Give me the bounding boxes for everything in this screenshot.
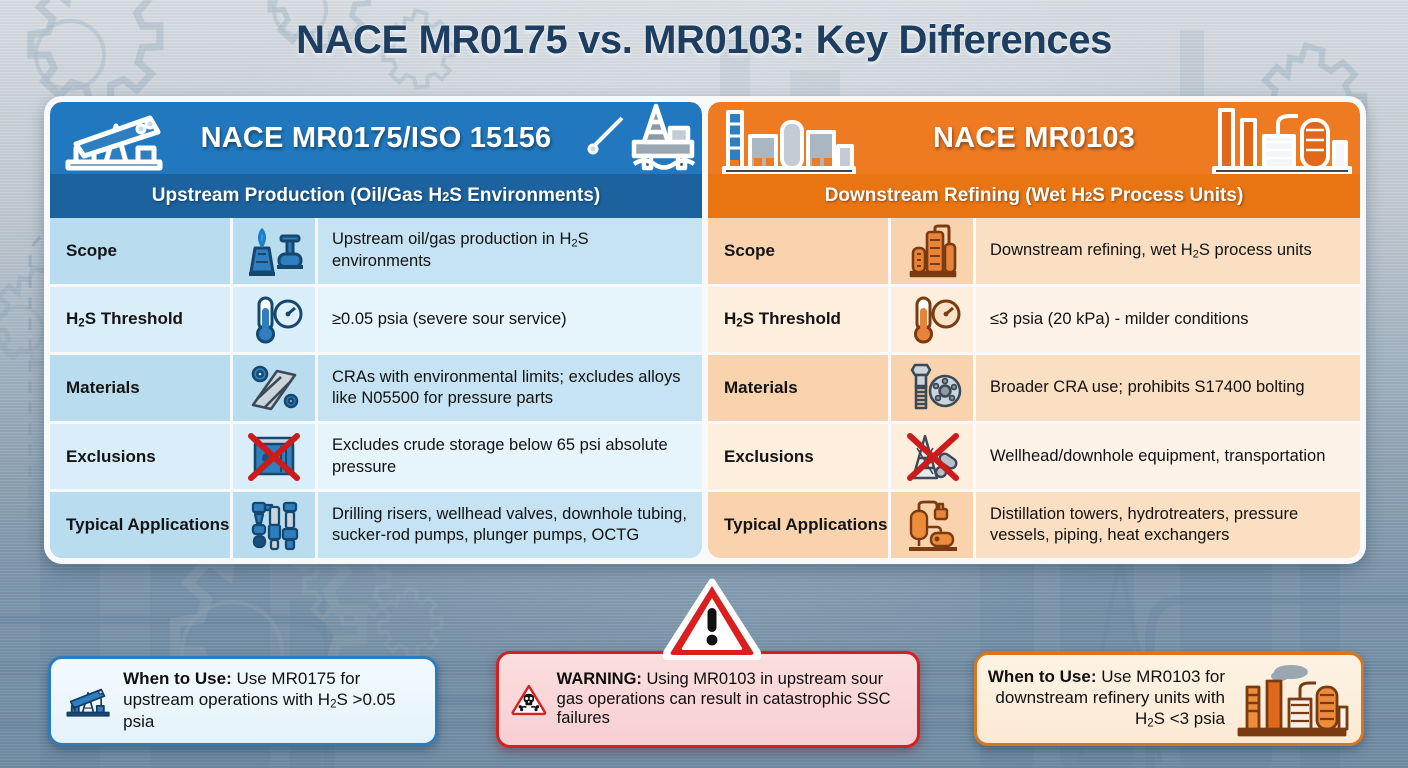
row-label: Materials [708, 355, 888, 421]
panel-header-title-mr0103: NACE MR0103 [933, 122, 1135, 155]
warning-text: WARNING: Using MR0103 in upstream sour g… [557, 670, 905, 729]
row-label: Typical Applications [708, 492, 888, 558]
warning-triangle-icon [663, 578, 761, 660]
callout-when-to-use-mr0175[interactable]: When to Use: Use MR0175 for upstream ope… [48, 656, 438, 746]
refinery-plant-icon [712, 102, 862, 174]
callout-bold-label: When to Use: [123, 669, 232, 688]
rows-mr0103: Scope Down [708, 218, 1360, 558]
row-label: H2S Threshold [708, 287, 888, 353]
row-value-text: ≤3 psia (20 kPa) - milder conditions [990, 309, 1249, 330]
crossed-out-storage-tank-icon [233, 424, 315, 490]
callout-text: When to Use: Use MR0175 for upstream ope… [123, 669, 423, 732]
table-row: Scope Upstream oil/gas pr [50, 218, 702, 284]
table-row: Scope Down [708, 218, 1360, 284]
row-label: Exclusions [50, 424, 230, 490]
row-value: CRAs with environmental limits; excludes… [318, 355, 702, 421]
steel-beam-gears-icon [233, 355, 315, 421]
refinery-towers-icon [1206, 102, 1356, 174]
panel-header-mr0175: NACE MR0175/ISO 15156 [50, 102, 702, 174]
row-value-text: Downstream refining, wet H [990, 241, 1193, 259]
row-value: Distillation towers, hydrotreaters, pres… [976, 492, 1360, 558]
table-row: Materials CRAs with environmenta [50, 355, 702, 421]
row-label-text: Scope [66, 241, 117, 261]
table-row: H2S Threshold ≥0.05 psia (severe sou [50, 287, 702, 353]
callout-bold-label: When to Use: [988, 667, 1097, 686]
row-value: Broader CRA use; prohibits S17400 boltin… [976, 355, 1360, 421]
row-label: Scope [708, 218, 888, 284]
refinery-plant-icon [1233, 661, 1351, 737]
table-row: Exclusions Excludes crude [50, 424, 702, 490]
skull-hazard-icon [511, 667, 547, 733]
row-value: ≥0.05 psia (severe sour service) [318, 287, 702, 353]
row-label-text: H [724, 309, 736, 328]
row-value: Wellhead/downhole equipment, transportat… [976, 424, 1360, 490]
row-label-text: Typical Applications [724, 515, 887, 535]
panel-subheader-mr0103: Downstream Refining (Wet H2S Process Uni… [708, 174, 1360, 218]
callout-when-to-use-mr0103[interactable]: When to Use: Use MR0103 for downstream r… [974, 652, 1364, 746]
row-value-text: ≥0.05 psia (severe sour service) [332, 309, 567, 330]
warning-callout[interactable]: WARNING: Using MR0103 in upstream sour g… [496, 651, 920, 748]
callout-tail: S <3 psia [1154, 709, 1225, 728]
panel-header-mr0103: NACE MR0103 [708, 102, 1360, 174]
row-value: Downstream refining, wet H2S process uni… [976, 218, 1360, 284]
row-value-text: Excludes crude storage below 65 psi abso… [332, 435, 690, 477]
pumpjack-icon [63, 666, 113, 736]
thermometer-gauge-icon [233, 287, 315, 353]
subheader-tail: S Environments) [449, 185, 600, 207]
subheader-tail: S Process Units) [1092, 185, 1243, 207]
row-label: Exclusions [708, 424, 888, 490]
warning-bold-label: WARNING: [557, 670, 642, 688]
row-label-text: Exclusions [66, 447, 156, 467]
process-vessels-icon [891, 492, 973, 558]
row-label-text: Materials [724, 378, 798, 398]
row-value: ≤3 psia (20 kPa) - milder conditions [976, 287, 1360, 353]
table-row: Materials [708, 355, 1360, 421]
table-row: Typical Applications [708, 492, 1360, 558]
wellhead-valve-icon [233, 218, 315, 284]
row-value-text: Drilling risers, wellhead valves, downho… [332, 504, 690, 546]
downhole-tools-icon [233, 492, 315, 558]
subheader-text: Downstream Refining (Wet H [825, 185, 1085, 207]
table-row: Typical Applications [50, 492, 702, 558]
pumpjack-icon [54, 102, 174, 174]
panel-subheader-mr0175: Upstream Production (Oil/Gas H2S Environ… [50, 174, 702, 218]
page-title: NACE MR0175 vs. MR0103: Key Differences [0, 18, 1408, 63]
panel-mr0103: NACE MR0103 Downstream Refining (Wet H2S… [708, 102, 1360, 558]
row-label-text: H [66, 309, 78, 328]
row-label: Scope [50, 218, 230, 284]
panel-mr0175: NACE MR0175/ISO 15156 Upstream Productio… [50, 102, 702, 558]
row-label-text: Materials [66, 378, 140, 398]
row-value: Upstream oil/gas production in H2S envir… [318, 218, 702, 284]
thermometer-gauge-icon [891, 287, 973, 353]
bolt-flange-icon [891, 355, 973, 421]
row-label-text: Typical Applications [66, 515, 229, 535]
callout-text: When to Use: Use MR0103 for downstream r… [987, 667, 1225, 730]
subheader-text: Upstream Production (Oil/Gas H [152, 185, 442, 207]
row-label-text: Exclusions [724, 447, 814, 467]
row-label-text: Scope [724, 241, 775, 261]
row-value-text: CRAs with environmental limits; excludes… [332, 367, 690, 409]
row-label: Materials [50, 355, 230, 421]
row-label-tail: S Threshold [85, 309, 183, 328]
row-label: Typical Applications [50, 492, 230, 558]
row-value-text: Upstream oil/gas production in H [332, 230, 571, 248]
row-value: Drilling risers, wellhead valves, downho… [318, 492, 702, 558]
row-value: Excludes crude storage below 65 psi abso… [318, 424, 702, 490]
offshore-rig-icon [578, 102, 698, 174]
table-row: H2S Threshold ≤3 psia (20 kPa) - mil [708, 287, 1360, 353]
row-value-tail: S process units [1199, 241, 1312, 259]
row-value-text: Wellhead/downhole equipment, transportat… [990, 446, 1325, 467]
panel-header-title-mr0175: NACE MR0175/ISO 15156 [201, 122, 552, 155]
comparison-card: NACE MR0175/ISO 15156 Upstream Productio… [44, 96, 1366, 564]
row-value-text: Broader CRA use; prohibits S17400 boltin… [990, 377, 1305, 398]
crossed-out-derrick-icon [891, 424, 973, 490]
distillation-column-icon [891, 218, 973, 284]
rows-mr0175: Scope Upstream oil/gas pr [50, 218, 702, 558]
row-label-tail: S Threshold [743, 309, 841, 328]
row-label: H2S Threshold [50, 287, 230, 353]
row-value-text: Distillation towers, hydrotreaters, pres… [990, 504, 1348, 546]
table-row: Exclusions [708, 424, 1360, 490]
